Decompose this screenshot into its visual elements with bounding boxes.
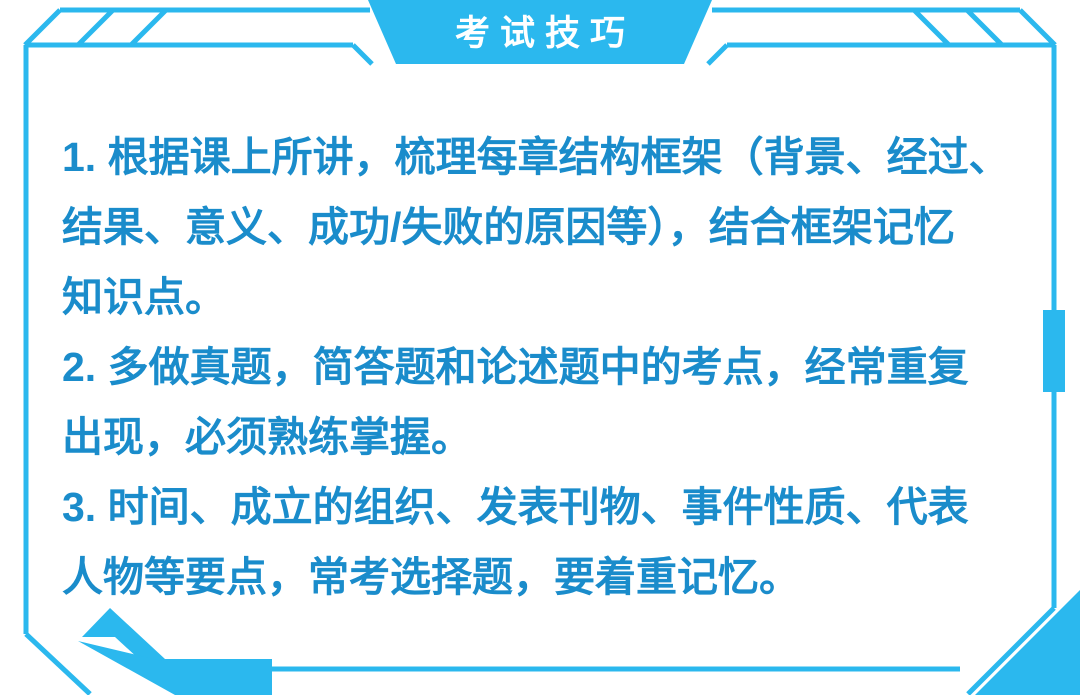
top-right-slash-1 [967, 10, 1002, 45]
tip-line: 结果、意义、成功/失败的原因等），结合框架记忆 [62, 192, 1032, 262]
top-left-slash-2 [131, 10, 166, 45]
frame-bottom-left-diagonal [26, 634, 90, 694]
tip-line: 2. 多做真题，简答题和论述题中的考点，经常重复 [62, 332, 1032, 402]
frame-banner-slant-right [708, 45, 727, 64]
frame-bottom-right-diagonal [968, 608, 1054, 694]
bottom-left-accent-bar-join [78, 641, 272, 695]
frame-banner-slant-left [353, 45, 372, 64]
top-left-slash-1 [78, 10, 113, 45]
exam-tips-card: 考试技巧 1. 根据课上所讲，梳理每章结构框架（背景、经过、 结果、意义、成功/… [0, 0, 1080, 695]
tip-line: 1. 根据课上所讲，梳理每章结构框架（背景、经过、 [62, 122, 1032, 192]
frame-top-outer-left-diagonal [25, 10, 60, 45]
tip-line: 知识点。 [62, 262, 1032, 332]
frame-top-outer-right-diagonal [1020, 10, 1055, 45]
right-accent-bar [1043, 310, 1065, 392]
tip-line: 3. 时间、成立的组织、发表刊物、事件性质、代表 [62, 472, 1032, 542]
tips-text-block: 1. 根据课上所讲，梳理每章结构框架（背景、经过、 结果、意义、成功/失败的原因… [62, 122, 1032, 612]
page-title: 考试技巧 [0, 0, 1080, 66]
banner-trapezoid [368, 0, 712, 64]
bottom-left-accent-bar [82, 608, 272, 695]
title-banner: 考试技巧 [0, 0, 1080, 66]
tip-line: 人物等要点，常考选择题，要着重记忆。 [62, 542, 1032, 612]
banner-shape [0, 0, 1080, 70]
tip-line: 出现，必须熟练掌握。 [62, 402, 1032, 472]
top-right-slash-2 [914, 10, 949, 45]
